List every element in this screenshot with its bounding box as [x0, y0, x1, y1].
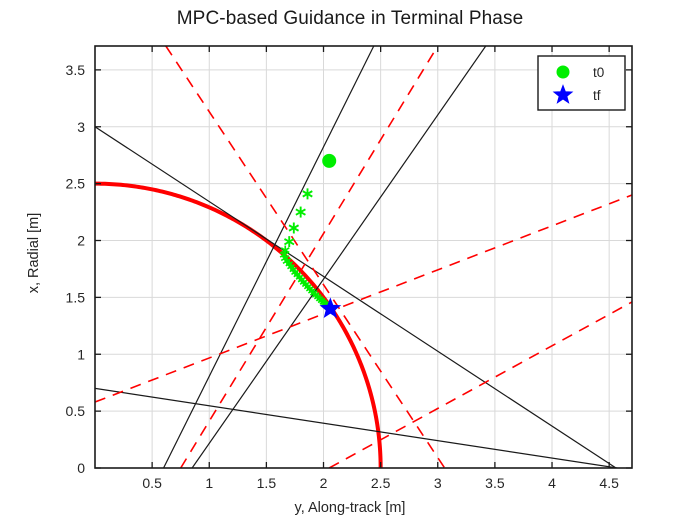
dashed-line-3	[181, 46, 438, 468]
marker-t0	[323, 154, 336, 167]
legend-box	[538, 56, 625, 110]
trajectory-marker	[296, 207, 306, 218]
x-tick-label: 4	[548, 475, 556, 491]
y-tick-label: 2	[77, 233, 85, 249]
y-tick-label: 3.5	[66, 62, 86, 78]
dashed-line-4	[329, 302, 632, 468]
dashed-line-1	[166, 46, 445, 468]
cone-line-2	[164, 46, 374, 468]
legend-circle-icon	[557, 66, 569, 78]
y-tick-label: 1	[77, 346, 85, 362]
x-tick-label: 1	[205, 475, 213, 491]
plot-area: 0.511.522.533.544.500.511.522.533.5 t0tf	[0, 0, 700, 525]
legend-label[interactable]: tf	[593, 88, 601, 103]
cone-line-4	[192, 46, 486, 468]
x-tick-label: 3	[434, 475, 442, 491]
y-tick-label: 0	[77, 460, 85, 476]
legend[interactable]: t0tf	[538, 56, 625, 110]
y-tick-label: 0.5	[66, 403, 86, 419]
cone-line-3	[95, 388, 617, 468]
x-tick-label: 4.5	[599, 475, 619, 491]
trajectory-marker	[289, 222, 299, 233]
x-tick-label: 2.5	[371, 475, 391, 491]
x-tick-label: 0.5	[142, 475, 162, 491]
trajectory-marker	[303, 188, 313, 199]
y-tick-label: 2.5	[66, 176, 86, 192]
y-tick-label: 3	[77, 119, 85, 135]
chart-figure: MPC-based Guidance in Terminal Phase y, …	[0, 0, 700, 525]
x-tick-label: 2	[320, 475, 328, 491]
y-tick-label: 1.5	[66, 289, 86, 305]
axis-ticks: 0.511.522.533.544.500.511.522.533.5	[66, 46, 632, 491]
legend-label[interactable]: t0	[593, 65, 604, 80]
x-tick-label: 1.5	[257, 475, 277, 491]
x-tick-label: 3.5	[485, 475, 505, 491]
